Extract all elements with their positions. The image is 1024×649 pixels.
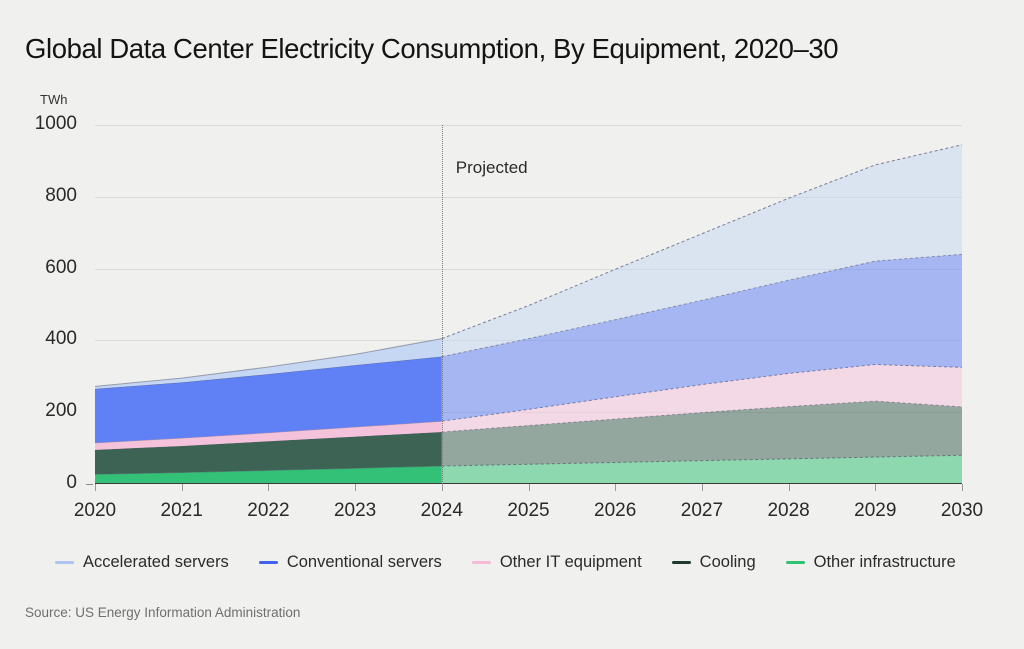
x-axis-tick-label-2028: 2028 (767, 500, 809, 522)
x-axis-tick-label-2022: 2022 (247, 500, 289, 522)
y-axis-tick-label-1000: 1000 (0, 113, 77, 135)
source-note: Source: US Energy Information Administra… (25, 605, 300, 620)
y-axis-tick-label-400: 400 (0, 328, 77, 350)
legend-item-cooling[interactable]: Cooling (672, 553, 756, 572)
x-axis-tick-label-2020: 2020 (74, 500, 116, 522)
x-axis-tick-label-2025: 2025 (507, 500, 549, 522)
legend-label: Cooling (700, 553, 756, 572)
legend-label: Other IT equipment (500, 553, 642, 572)
chart-legend: Accelerated serversConventional serversO… (55, 553, 986, 572)
x-axis-tick-2027 (702, 484, 703, 491)
legend-label: Other infrastructure (814, 553, 956, 572)
legend-label: Conventional servers (287, 553, 442, 572)
projection-divider-line (442, 125, 443, 484)
legend-swatch-icon (55, 561, 74, 564)
y-axis-tick-label-0: 0 (0, 472, 77, 494)
x-axis-tick-2022 (268, 484, 269, 491)
y-axis-unit-label: TWh (40, 92, 67, 107)
legend-item-other-infrastructure[interactable]: Other infrastructure (786, 553, 956, 572)
x-axis-tick-label-2026: 2026 (594, 500, 636, 522)
x-axis-tick-label-2021: 2021 (161, 500, 203, 522)
chart-title: Global Data Center Electricity Consumpti… (25, 33, 838, 65)
projected-annotation: Projected (456, 158, 528, 178)
x-axis-tick-2024 (442, 484, 443, 491)
x-axis-tick-2021 (182, 484, 183, 491)
chart-root: Global Data Center Electricity Consumpti… (0, 0, 1024, 649)
y-axis-tick-label-800: 800 (0, 185, 77, 207)
x-axis-tick-label-2024: 2024 (421, 500, 463, 522)
plot-area (95, 125, 962, 484)
x-axis-tick-2020 (95, 484, 96, 491)
x-axis-tick-2028 (789, 484, 790, 491)
x-axis-tick-label-2027: 2027 (681, 500, 723, 522)
legend-item-conventional-servers[interactable]: Conventional servers (259, 553, 442, 572)
x-axis-tick-label-2023: 2023 (334, 500, 376, 522)
y-axis-tick-label-200: 200 (0, 400, 77, 422)
stacked-area-series (95, 125, 962, 484)
legend-swatch-icon (786, 561, 805, 564)
x-axis-tick-2023 (355, 484, 356, 491)
x-axis-tick-2030 (962, 484, 963, 491)
x-axis-tick-label-2029: 2029 (854, 500, 896, 522)
legend-swatch-icon (472, 561, 491, 564)
y-axis-tick-0 (86, 484, 93, 485)
legend-label: Accelerated servers (83, 553, 229, 572)
y-axis-tick-label-600: 600 (0, 257, 77, 279)
x-axis-tick-2026 (615, 484, 616, 491)
legend-swatch-icon (672, 561, 691, 564)
x-axis-tick-2025 (529, 484, 530, 491)
legend-swatch-icon (259, 561, 278, 564)
x-axis-tick-label-2030: 2030 (941, 500, 983, 522)
legend-item-other-it-equipment[interactable]: Other IT equipment (472, 553, 642, 572)
legend-item-accelerated-servers[interactable]: Accelerated servers (55, 553, 229, 572)
x-axis-tick-2029 (875, 484, 876, 491)
